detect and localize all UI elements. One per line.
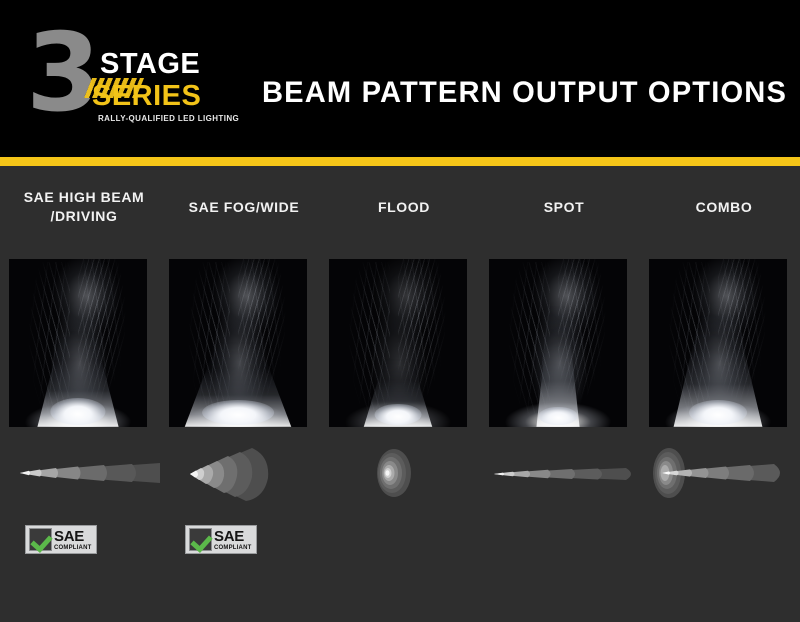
column-label-sae-high-beam-driving: SAE HIGH BEAM /DRIVING (8, 188, 160, 226)
label-line-1: FLOOD (378, 199, 430, 215)
beam-shape-diagram-flood (328, 438, 480, 508)
photo-beam-hotspot (202, 400, 274, 425)
column-label-sae-fog-wide: SAE FOG/WIDE (168, 198, 320, 217)
sae-badge-text: SAE COMPLIANT (54, 529, 91, 551)
beam-shape-diagram-driving (8, 438, 160, 508)
beam-pattern-infographic: 3 STAGE SERIES RALLY-QUALIFIED LED LIGHT… (0, 0, 800, 622)
page-title: BEAM PATTERN OUTPUT OPTIONS (262, 76, 766, 110)
logo-word-series: SERIES (92, 82, 201, 111)
sae-badge-subtitle: COMPLIANT (54, 545, 91, 551)
beam-photo-combo (649, 259, 787, 427)
header-bar: 3 STAGE SERIES RALLY-QUALIFIED LED LIGHT… (0, 0, 800, 157)
label-line-1: SAE FOG/WIDE (189, 199, 300, 215)
beam-shape-diagram-spot (488, 438, 640, 508)
photo-beam-hotspot (689, 400, 747, 425)
sae-badge-title: SAE (214, 529, 251, 544)
column-combo: COMBO (648, 166, 800, 622)
sae-badge-title: SAE (54, 529, 91, 544)
column-label-combo: COMBO (648, 198, 800, 217)
label-line-1: SAE HIGH BEAM (24, 189, 145, 205)
column-label-flood: FLOOD (328, 198, 480, 217)
beam-photo-sae-fog-wide (169, 259, 307, 427)
beam-photo-sae-high-beam-driving (9, 259, 147, 427)
column-label-spot: SPOT (488, 198, 640, 217)
sae-compliant-badge-fog: SAE COMPLIANT (185, 525, 257, 554)
beam-shape-diagram-combo (648, 438, 800, 508)
check-icon (29, 528, 52, 551)
photo-beam-hotspot (375, 404, 422, 426)
sae-badge-subtitle: COMPLIANT (214, 545, 251, 551)
sae-badge-text: SAE COMPLIANT (214, 529, 251, 551)
beam-photo-spot (489, 259, 627, 427)
column-spot: SPOT (488, 166, 640, 622)
label-line-1: COMBO (696, 199, 753, 215)
column-sae-high-beam-driving: SAE HIGH BEAM /DRIVING (8, 166, 160, 622)
accent-divider (0, 157, 800, 166)
beam-shape-diagram-fog (168, 438, 320, 508)
diode-dynamics-stage-series-logo: 3 STAGE SERIES RALLY-QUALIFIED LED LIGHT… (26, 28, 236, 126)
column-flood: FLOOD (328, 166, 480, 622)
column-sae-fog-wide: SAE FOG/WIDE (168, 166, 320, 622)
sae-compliant-badge-driving: SAE COMPLIANT (25, 525, 97, 554)
logo-tagline: RALLY-QUALIFIED LED LIGHTING (98, 114, 239, 123)
check-icon (189, 528, 212, 551)
photo-beam-hotspot (50, 398, 105, 425)
label-line-1: SPOT (544, 199, 585, 215)
beam-photo-flood (329, 259, 467, 427)
logo-word-stage: STAGE (100, 50, 200, 79)
label-line-2: /DRIVING (50, 208, 117, 224)
